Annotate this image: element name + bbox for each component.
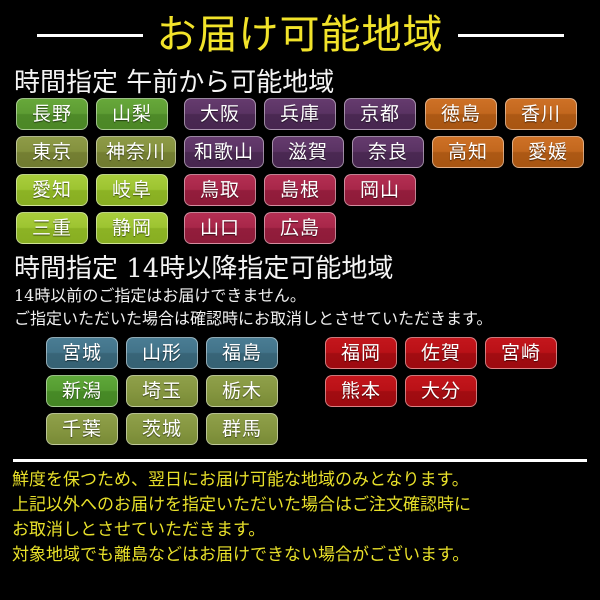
prefecture-tag[interactable]: 栃木 [206, 375, 278, 407]
section-afternoon-heading: 時間指定 14時以降指定可能地域 [0, 254, 600, 284]
prefecture-tag[interactable]: 茨城 [126, 413, 198, 445]
section-morning-tag-rows: 長野山梨大阪兵庫京都徳島香川東京神奈川和歌山滋賀奈良高知愛媛愛知岐阜鳥取島根岡山… [0, 98, 600, 250]
title-rule-left [37, 34, 143, 37]
prefecture-tag[interactable]: 大分 [405, 375, 477, 407]
tag-row: 新潟埼玉栃木熊本大分 [0, 375, 600, 413]
page-title: お届け可能地域 [157, 13, 444, 57]
prefecture-tag[interactable]: 神奈川 [96, 136, 176, 168]
prefecture-tag[interactable]: 滋賀 [272, 136, 344, 168]
title-banner: お届け可能地域 [0, 0, 600, 68]
prefecture-tag[interactable]: 鳥取 [184, 174, 256, 206]
prefecture-tag[interactable]: 佐賀 [405, 337, 477, 369]
prefecture-tag[interactable]: 福島 [206, 337, 278, 369]
prefecture-tag[interactable]: 香川 [505, 98, 577, 130]
section-afternoon-tag-rows: 宮城山形福島福岡佐賀宮崎新潟埼玉栃木熊本大分千葉茨城群馬 [0, 337, 600, 451]
prefecture-tag[interactable]: 京都 [344, 98, 416, 130]
prefecture-tag[interactable]: 宮崎 [485, 337, 557, 369]
footer-line: 鮮度を保つため、翌日にお届け可能な地域のみとなります。 [12, 468, 600, 493]
prefecture-tag[interactable]: 東京 [16, 136, 88, 168]
tag-row: 東京神奈川和歌山滋賀奈良高知愛媛 [0, 136, 600, 174]
tag-row: 千葉茨城群馬 [0, 413, 600, 451]
footer-line: 対象地域でも離島などはお届けできない場合がございます。 [12, 543, 600, 568]
section-note: 14時以前のご指定はお届けできません。 [0, 284, 600, 307]
prefecture-tag[interactable]: 奈良 [352, 136, 424, 168]
prefecture-tag[interactable]: 愛知 [16, 174, 88, 206]
tag-row: 愛知岐阜鳥取島根岡山 [0, 174, 600, 212]
footer-line: 上記以外へのお届けを指定いただいた場合はご注文確認時に [12, 493, 600, 518]
prefecture-tag[interactable]: 広島 [264, 212, 336, 244]
footer-line: お取消しとさせていただきます。 [12, 518, 600, 543]
section-note: ご指定いただいた場合は確認時にお取消しとさせていただきます。 [0, 307, 600, 330]
prefecture-tag[interactable]: 島根 [264, 174, 336, 206]
prefecture-tag[interactable]: 静岡 [96, 212, 168, 244]
prefecture-tag[interactable]: 徳島 [425, 98, 497, 130]
delivery-area-graphic: お届け可能地域 時間指定 午前から可能地域 長野山梨大阪兵庫京都徳島香川東京神奈… [0, 0, 600, 600]
prefecture-tag[interactable]: 新潟 [46, 375, 118, 407]
tag-row: 三重静岡山口広島 [0, 212, 600, 250]
prefecture-tag[interactable]: 和歌山 [184, 136, 264, 168]
title-rule-right [458, 34, 564, 37]
prefecture-tag[interactable]: 宮城 [46, 337, 118, 369]
tag-row: 長野山梨大阪兵庫京都徳島香川 [0, 98, 600, 136]
prefecture-tag[interactable]: 千葉 [46, 413, 118, 445]
prefecture-tag[interactable]: 愛媛 [512, 136, 584, 168]
prefecture-tag[interactable]: 大阪 [184, 98, 256, 130]
section-morning-heading: 時間指定 午前から可能地域 [0, 68, 600, 98]
footer: 鮮度を保つため、翌日にお届け可能な地域のみとなります。上記以外へのお届けを指定い… [0, 459, 600, 568]
prefecture-tag[interactable]: 埼玉 [126, 375, 198, 407]
prefecture-tag[interactable]: 山形 [126, 337, 198, 369]
prefecture-tag[interactable]: 長野 [16, 98, 88, 130]
prefecture-tag[interactable]: 三重 [16, 212, 88, 244]
prefecture-tag[interactable]: 群馬 [206, 413, 278, 445]
prefecture-tag[interactable]: 山梨 [96, 98, 168, 130]
prefecture-tag[interactable]: 岡山 [344, 174, 416, 206]
prefecture-tag[interactable]: 福岡 [325, 337, 397, 369]
prefecture-tag[interactable]: 山口 [184, 212, 256, 244]
tag-row: 宮城山形福島福岡佐賀宮崎 [0, 337, 600, 375]
prefecture-tag[interactable]: 熊本 [325, 375, 397, 407]
section-morning: 時間指定 午前から可能地域 長野山梨大阪兵庫京都徳島香川東京神奈川和歌山滋賀奈良… [0, 68, 600, 250]
section-afternoon: 時間指定 14時以降指定可能地域 14時以前のご指定はお届けできません。ご指定い… [0, 254, 600, 451]
section-afternoon-notes: 14時以前のご指定はお届けできません。ご指定いただいた場合は確認時にお取消しとさ… [0, 284, 600, 330]
footer-text-block: 鮮度を保つため、翌日にお届け可能な地域のみとなります。上記以外へのお届けを指定い… [0, 462, 600, 568]
prefecture-tag[interactable]: 岐阜 [96, 174, 168, 206]
prefecture-tag[interactable]: 兵庫 [264, 98, 336, 130]
prefecture-tag[interactable]: 高知 [432, 136, 504, 168]
